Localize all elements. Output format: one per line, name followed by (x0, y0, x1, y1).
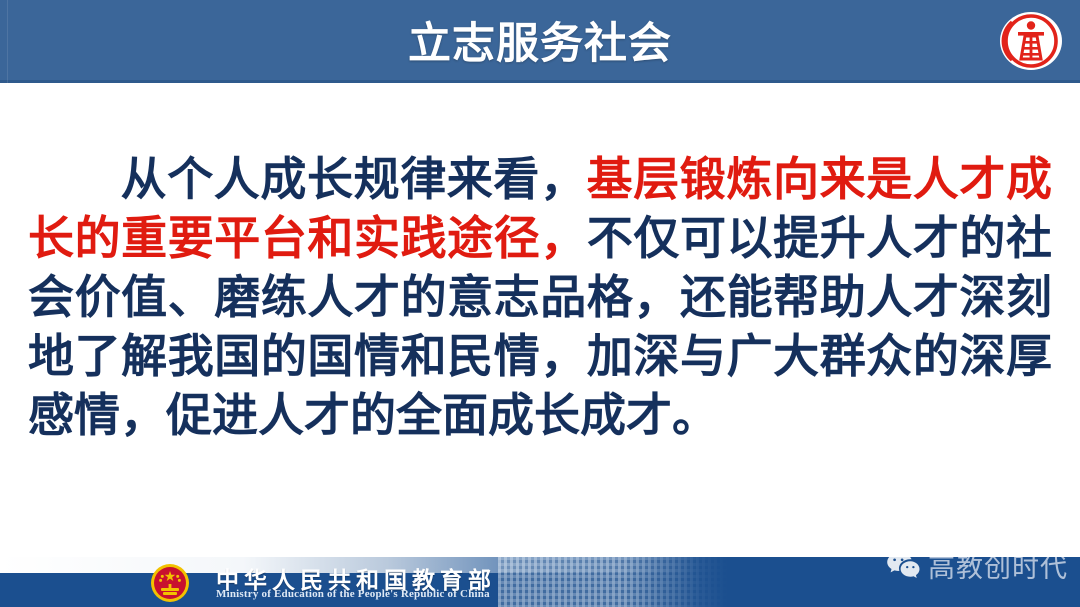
slide-body-text: 从个人成长规律来看，基层锻炼向来是人才成长的重要平台和实践途径，不仅可以提升人才… (28, 150, 1052, 445)
slide-header: 立志服务社会 (0, 0, 1080, 83)
watermark: 高教创时代 (886, 557, 1068, 585)
ministry-building-photo (498, 557, 728, 607)
institution-emblem-icon (998, 10, 1064, 72)
body-segment-normal-1: 从个人成长规律来看， (120, 152, 587, 206)
watermark-label: 高教创时代 (928, 557, 1068, 585)
page-title: 立志服务社会 (0, 0, 1080, 80)
china-national-emblem-icon (148, 561, 192, 605)
slide-canvas: 立志服务社会 从个人成长规律来看，基层锻炼向来是人才成长的重要平台和实践途径，不… (0, 0, 1080, 607)
ministry-name-en: Ministry of Education of the People's Re… (216, 588, 490, 600)
wechat-icon (886, 557, 920, 580)
slide-footer: 中华人民共和国教育部 Ministry of Education of the … (0, 557, 1080, 607)
